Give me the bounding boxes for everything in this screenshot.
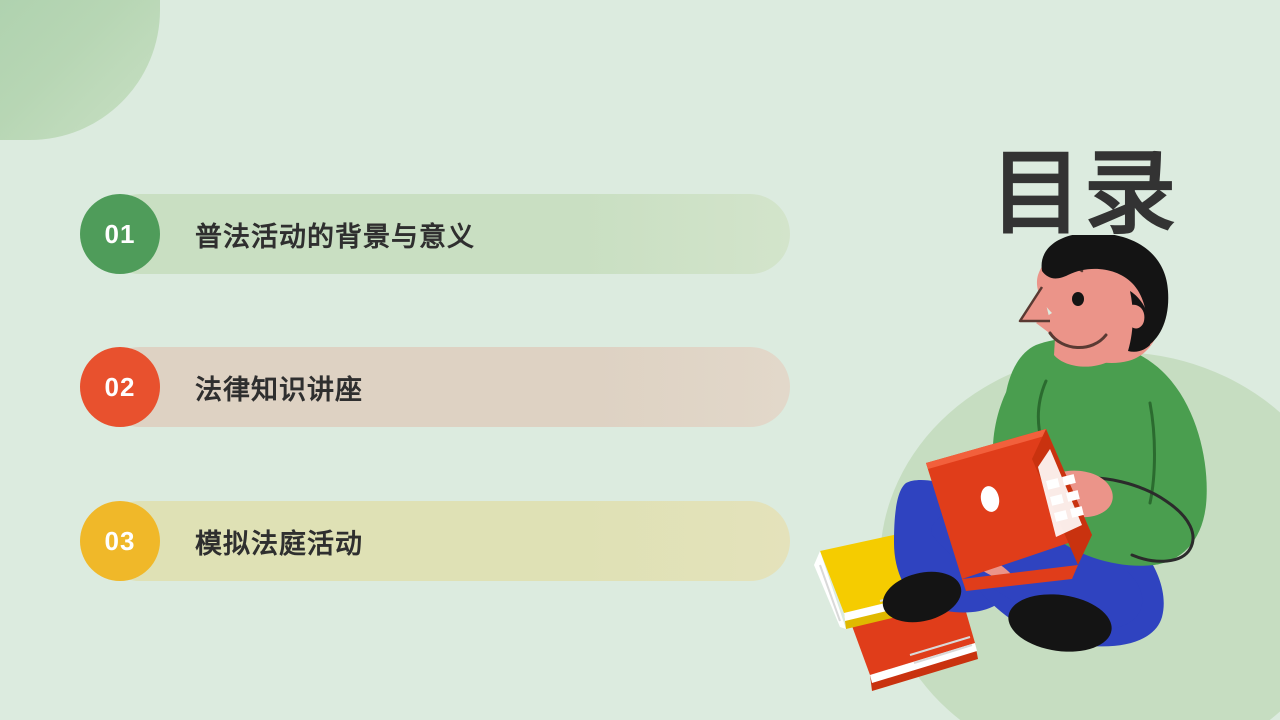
toc-item-02[interactable]: 02 法律知识讲座 bbox=[80, 347, 790, 427]
slide-canvas: 目录 01 普法活动的背景与意义 02 法律知识讲座 03 模拟法庭活动 bbox=[0, 0, 1280, 720]
toc-number-badge-01: 01 bbox=[80, 194, 160, 274]
toc-item-01[interactable]: 01 普法活动的背景与意义 bbox=[80, 194, 790, 274]
toc-item-03[interactable]: 03 模拟法庭活动 bbox=[80, 501, 790, 581]
toc-number-badge-02: 02 bbox=[80, 347, 160, 427]
page-title: 目录 bbox=[990, 148, 1178, 240]
person-with-laptop-illustration bbox=[810, 235, 1280, 720]
toc-label-02: 法律知识讲座 bbox=[195, 347, 363, 427]
toc-number-badge-03: 03 bbox=[80, 501, 160, 581]
toc-label-03: 模拟法庭活动 bbox=[195, 501, 363, 581]
corner-blob-decoration bbox=[0, 0, 160, 140]
toc-label-01: 普法活动的背景与意义 bbox=[195, 194, 475, 274]
eye-icon bbox=[1072, 292, 1084, 306]
